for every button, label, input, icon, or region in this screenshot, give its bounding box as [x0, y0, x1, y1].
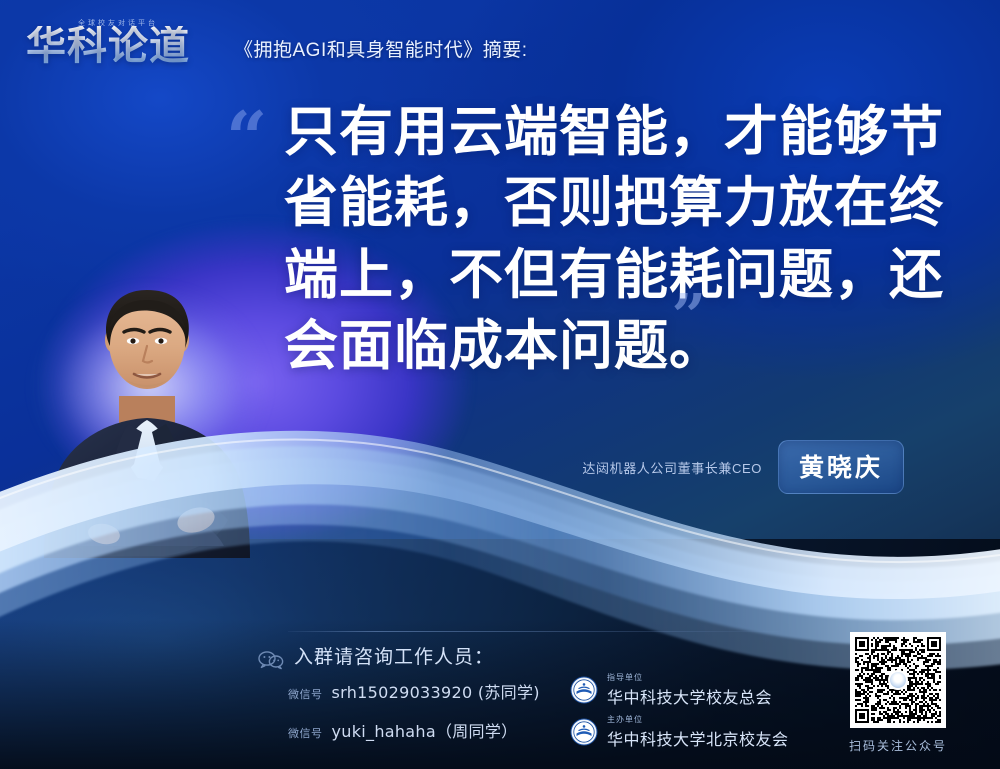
logo-wordmark: 华科论道 — [26, 26, 190, 66]
wechat-icon — [258, 650, 284, 670]
speaker-name-badge: 黄晓庆 — [778, 440, 904, 494]
contact-row: 微信号 yuki_hahaha（周同学） — [288, 718, 517, 742]
quote-line: 会面临成本问题。 — [284, 310, 956, 381]
organization-name: 华中科技大学校友总会 — [607, 684, 772, 708]
speaker-role: 达闼机器人公司董事长兼CEO — [582, 458, 762, 477]
university-seal-icon — [570, 676, 598, 704]
quote-open-mark: “ — [226, 102, 267, 174]
page-title: 《拥抱AGI和具身智能时代》摘要: — [234, 35, 528, 62]
join-instruction-title: 入群请咨询工作人员： — [294, 642, 494, 669]
quote-line: 只有用云端智能，才能够节 — [284, 96, 956, 167]
qr-block: 扫码关注公众号 — [840, 632, 956, 754]
qr-center-logo — [888, 670, 908, 690]
university-seal-icon — [570, 718, 598, 746]
quote-line: 端上，不但有能耗问题，还 — [284, 239, 956, 310]
quote-text: 只有用云端智能，才能够节 省能耗，否则把算力放在终 端上，不但有能耗问题，还 会… — [284, 96, 956, 381]
qr-code-icon[interactable] — [850, 632, 946, 728]
organization-text: 指导单位 华中科技大学校友总会 — [607, 672, 772, 708]
contact-label: 微信号 — [288, 725, 323, 741]
quote-close-mark: ” — [671, 287, 706, 347]
brand-logo[interactable]: 全球校友对话平台 华科论道 — [26, 14, 216, 76]
qr-caption: 扫码关注公众号 — [840, 737, 956, 754]
header-bar: 全球校友对话平台 华科论道 《拥抱AGI和具身智能时代》摘要: — [0, 0, 1000, 90]
organization-name: 华中科技大学北京校友会 — [607, 726, 789, 750]
quote-line: 省能耗，否则把算力放在终 — [284, 167, 956, 238]
contact-value[interactable]: yuki_hahaha（周同学） — [332, 718, 518, 742]
organization-row: 指导单位 华中科技大学校友总会 — [570, 672, 772, 708]
organization-text: 主办单位 华中科技大学北京校友会 — [607, 714, 789, 750]
contact-label: 微信号 — [288, 686, 323, 702]
organization-row: 主办单位 华中科技大学北京校友会 — [570, 714, 789, 750]
organization-kind: 主办单位 — [607, 714, 789, 725]
poster-canvas: 全球校友对话平台 华科论道 《拥抱AGI和具身智能时代》摘要: “ 只有用云端智… — [0, 0, 1000, 769]
organization-kind: 指导单位 — [607, 672, 772, 683]
attribution: 达闼机器人公司董事长兼CEO 黄晓庆 — [582, 440, 904, 494]
contact-row: 微信号 srh15029033920 (苏同学) — [288, 679, 540, 703]
footer-divider — [288, 631, 780, 632]
contact-value[interactable]: srh15029033920 (苏同学) — [332, 679, 540, 703]
quote-block: “ 只有用云端智能，才能够节 省能耗，否则把算力放在终 端上，不但有能耗问题，还… — [226, 96, 956, 381]
